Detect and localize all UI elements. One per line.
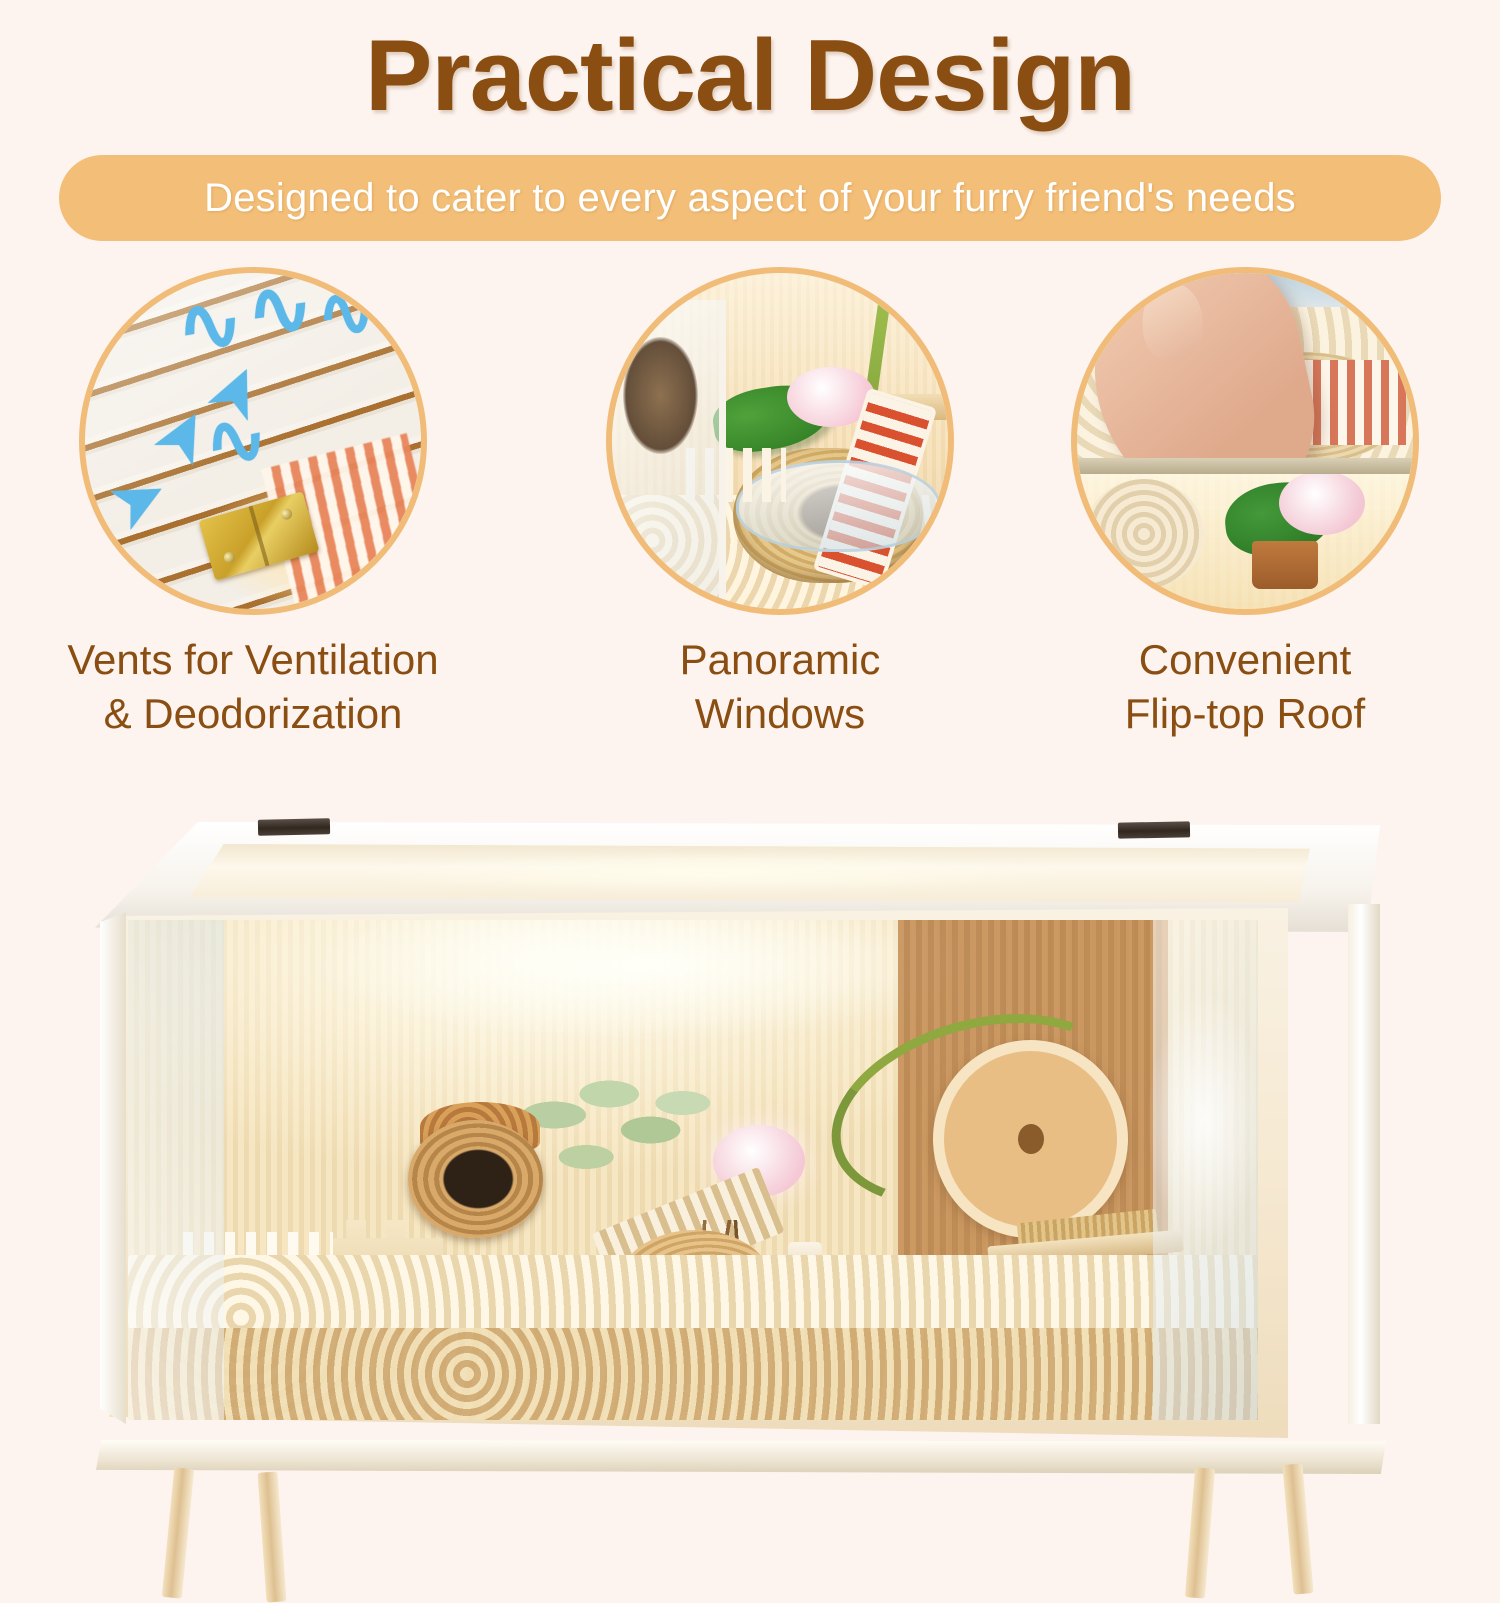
caption-line-2: Flip-top Roof <box>1030 687 1460 741</box>
woven-nest-lower-left <box>1084 479 1204 589</box>
roof-hinge-right-icon <box>1118 821 1190 838</box>
feature-item-flip-top-roof: Convenient Flip-top Roof <box>1030 267 1460 741</box>
airflow-wave-icon: ∿ <box>242 273 318 351</box>
subtitle-text: Designed to cater to every aspect of you… <box>204 176 1296 221</box>
cabinet-left-post <box>100 912 126 1424</box>
feature-image-panoramic-windows <box>606 267 954 615</box>
wood-shaving-bedding <box>128 1255 1258 1420</box>
airflow-wave-icon: ∿ <box>171 280 249 368</box>
airflow-wave-icon: ∿ <box>314 274 380 350</box>
page-title: Practical Design <box>0 0 1500 127</box>
feature-caption-flip-top-roof: Convenient Flip-top Roof <box>1030 633 1460 741</box>
subtitle-banner: Designed to cater to every aspect of you… <box>59 155 1441 241</box>
interior-light-glow <box>309 920 987 1040</box>
feature-caption-ventilation: Vents for Ventilation & Deodorization <box>38 633 468 741</box>
roof-edge-rail <box>1077 458 1413 474</box>
acrylic-window-panel <box>612 300 726 609</box>
product-photo <box>0 800 1500 1500</box>
caption-line-2: & Deodorization <box>38 687 468 741</box>
bedding-lower-layer <box>128 1328 1258 1420</box>
feature-image-flip-top-roof <box>1071 267 1419 615</box>
cage-interior <box>128 920 1258 1420</box>
caption-line-1: Panoramic <box>565 633 995 687</box>
woven-nest-hideout <box>408 1120 543 1238</box>
roof-light-glow <box>330 852 1090 894</box>
caption-line-1: Convenient <box>1030 633 1460 687</box>
base-rail <box>96 1440 1386 1474</box>
open-roof-view <box>1077 273 1413 461</box>
cabinet-body <box>100 908 1380 1468</box>
feature-image-ventilation: ➤ ➤ ➤ ∿ ∿ ∿ ∿ <box>79 267 427 615</box>
pink-flower-decor <box>1279 471 1365 535</box>
wheel-hub <box>1018 1124 1044 1154</box>
feature-item-ventilation: ➤ ➤ ➤ ∿ ∿ ∿ ∿ Vents for Ventilation & De… <box>38 267 468 741</box>
roof-hinge-left-icon <box>258 818 330 836</box>
exercise-wheel <box>933 1040 1128 1238</box>
feature-item-panoramic-windows: Panoramic Windows <box>565 267 995 741</box>
leg-back-left <box>257 1471 286 1602</box>
caption-line-2: Windows <box>565 687 995 741</box>
leg-front-left <box>162 1467 194 1598</box>
leg-front-right <box>1282 1463 1313 1594</box>
right-acrylic-window <box>1153 920 1258 1420</box>
leg-back-right <box>1185 1467 1215 1598</box>
feature-list: ➤ ➤ ➤ ∿ ∿ ∿ ∿ Vents for Ventilation & De… <box>0 267 1500 767</box>
caption-line-1: Vents for Ventilation <box>38 633 468 687</box>
left-acrylic-window <box>128 920 224 1420</box>
terracotta-pot <box>1252 541 1318 589</box>
feature-caption-panoramic-windows: Panoramic Windows <box>565 633 995 741</box>
cabinet-right-post <box>1348 904 1380 1424</box>
